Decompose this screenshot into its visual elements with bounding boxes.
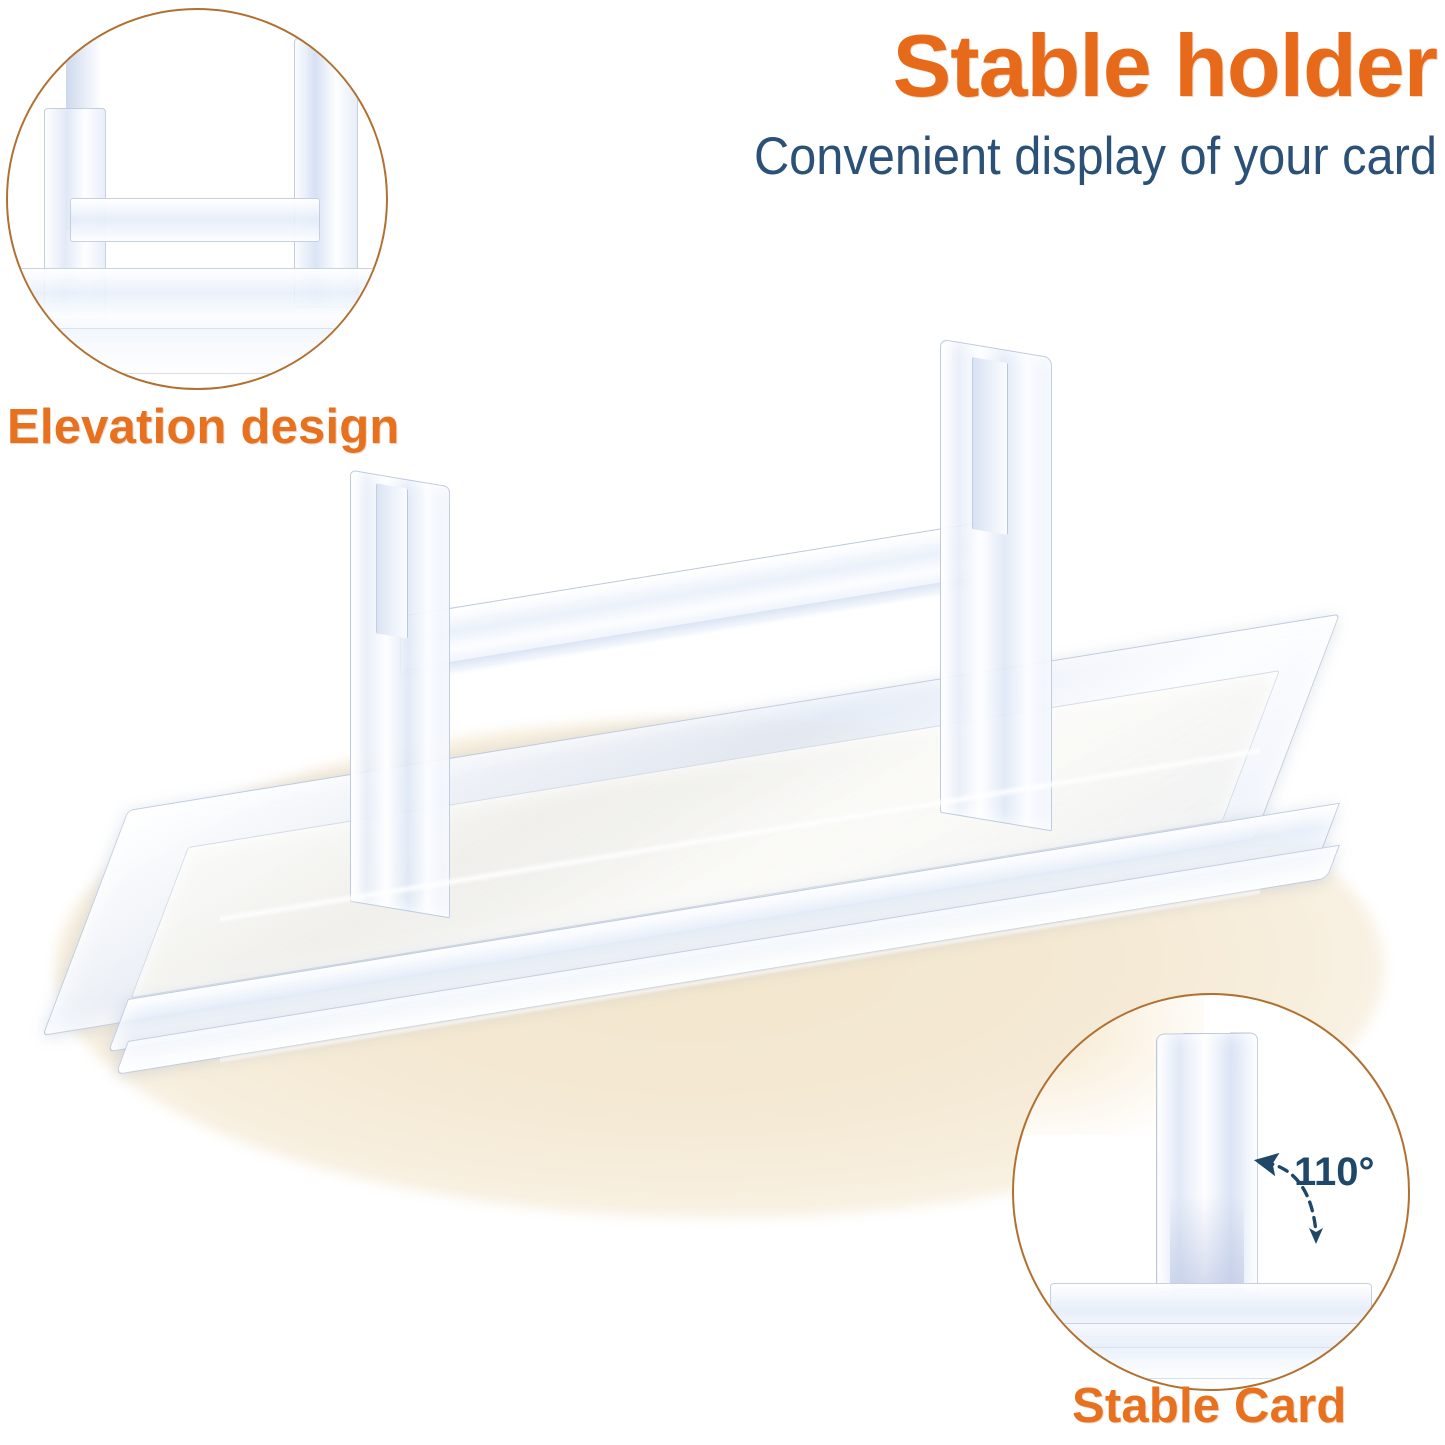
page-title: Stable holder bbox=[500, 22, 1437, 110]
inset-tl-crossbar bbox=[70, 198, 320, 242]
inset-elevation-design bbox=[6, 8, 388, 390]
headline-block: Stable holder Convenient display of your… bbox=[500, 22, 1445, 183]
inset-tl-base-edge bbox=[30, 328, 372, 374]
feature-label-elevation-design: Elevation design bbox=[7, 399, 400, 455]
left-post-card-slot bbox=[376, 483, 408, 638]
inset-br-base-bottom bbox=[1032, 1347, 1386, 1379]
page-subtitle: Convenient display of your card bbox=[575, 130, 1437, 183]
inset-br-post-shadow bbox=[1170, 1195, 1244, 1291]
angle-value-label: 110° bbox=[1294, 1150, 1375, 1195]
right-post-card-slot bbox=[972, 357, 1008, 535]
product-feature-graphic: Stable holder Convenient display of your… bbox=[0, 0, 1445, 1445]
feature-label-stable-card: Stable Card bbox=[1072, 1378, 1347, 1434]
